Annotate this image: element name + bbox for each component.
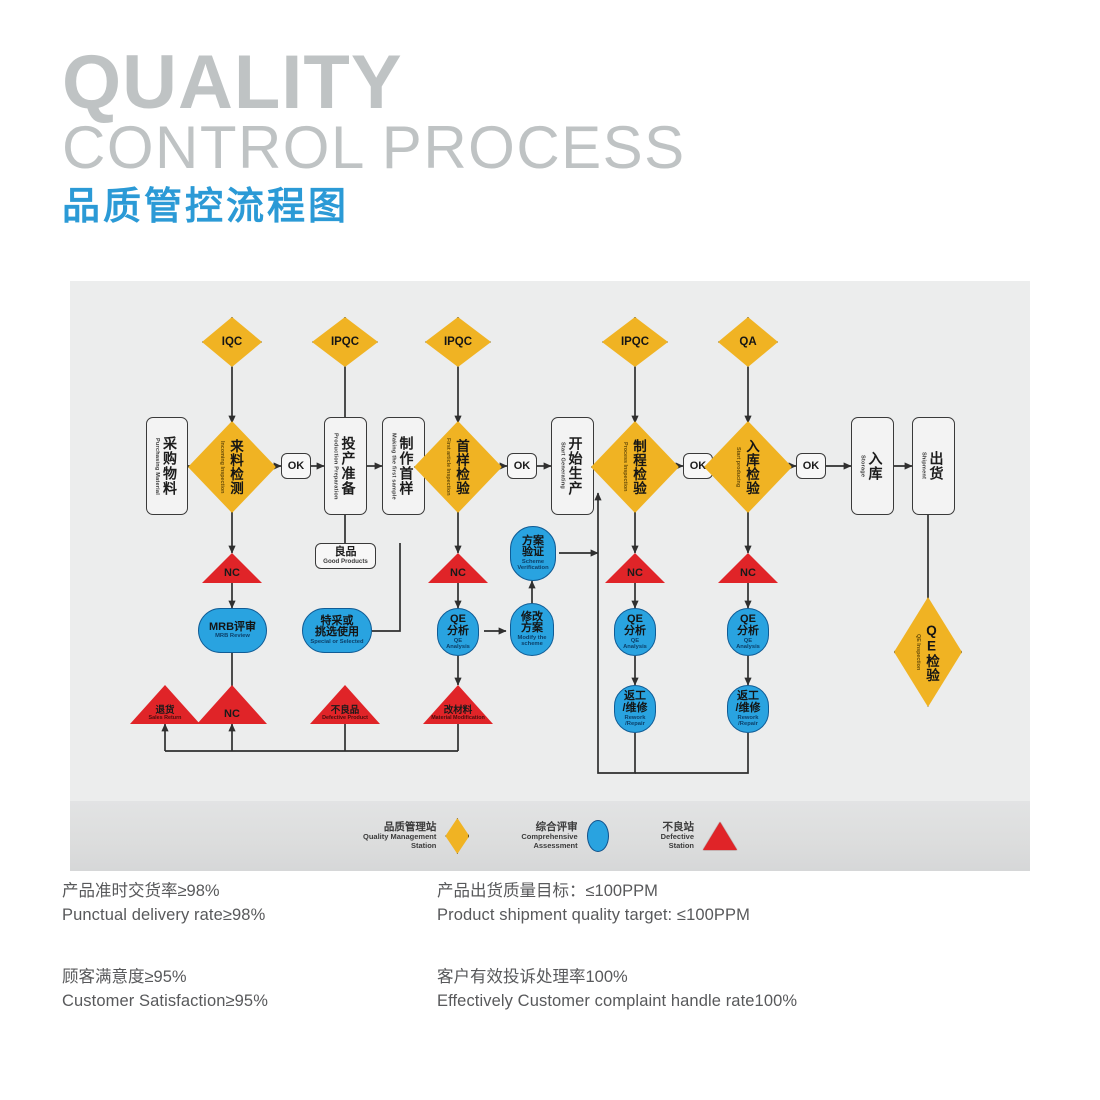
legend-item-comprehensive-assessment: 综合评审 Comprehensive Assessment <box>521 820 608 852</box>
salesreturn-en: Sales Return <box>149 716 182 721</box>
defect-triangle-defective-product[interactable]: 不良品 Defective Product <box>310 685 380 724</box>
review-capsule-mrb[interactable]: MRB评审 MRB Review <box>198 608 267 653</box>
nc5-label: NC <box>740 567 756 583</box>
kpi-cn-0: 产品准时交货率≥98% <box>62 880 437 904</box>
inspection-diamond-qe[interactable]: QE检验 QE Inspection <box>894 597 962 707</box>
review-capsule-modify-scheme[interactable]: 修改 方案 Modify the scheme <box>510 603 554 656</box>
inspection-diamond-incoming[interactable]: 来料检测 Incoming Inspection <box>188 421 276 513</box>
process-cn: 制程检验 <box>628 439 648 495</box>
qe3-en-line2: Analysis <box>736 644 760 650</box>
kpi-en-2: Customer Satisfaction≥95% <box>62 990 437 1014</box>
legend-en2-2: Station <box>661 842 694 850</box>
page-header: QUALITY CONTROL PROCESS 品质管控流程图 <box>62 48 962 226</box>
process-box-prep[interactable]: 投产准备 Production Preparation <box>324 417 367 515</box>
nc4-label: NC <box>627 567 643 583</box>
legend-en2-1: Assessment <box>521 842 577 850</box>
ok-badge-4[interactable]: OK <box>796 453 826 479</box>
defect-triangle-nc4[interactable]: NC <box>605 553 665 583</box>
ok-badge-1[interactable]: OK <box>281 453 311 479</box>
station-label-ipqc1: IPQC <box>331 336 359 348</box>
review-capsule-rework-2[interactable]: 返工 /维修 Rework /Repair <box>727 685 769 733</box>
inspection-diamond-instock[interactable]: 入库检验 Start producing <box>704 421 792 513</box>
special-cn-line2: 挑选使用 <box>315 627 359 639</box>
process-box-good-products[interactable]: 良品 Good Products <box>315 543 376 569</box>
process-box-purchase[interactable]: 采购物料 Purchasing Material <box>146 417 188 515</box>
defect-triangle-nc3[interactable]: NC <box>428 553 488 583</box>
legend-diamond-icon <box>445 818 469 854</box>
shipment-cn: 出货 <box>927 451 947 481</box>
process-box-shipment[interactable]: 出货 Shipment <box>912 417 955 515</box>
kpi-footer: 产品准时交货率≥98% Punctual delivery rate≥98% 产… <box>62 880 1042 1014</box>
prep-cn: 投产准备 <box>339 436 359 496</box>
kpi-cn-2: 顾客满意度≥95% <box>62 966 437 990</box>
defect-triangle-sales-return[interactable]: 退货 Sales Return <box>130 685 200 724</box>
legend-oval-icon <box>587 820 609 852</box>
startprod-cn: 开始生产 <box>566 436 586 496</box>
legend-en2-0: Station <box>363 842 436 850</box>
scheme-en-line2: Verification <box>517 565 548 571</box>
flowchart-canvas: IQC IPQC IPQC IPQC QA 采购物料 Purchasing Ma… <box>70 281 1030 801</box>
matmod-en: Material Modification <box>431 716 485 721</box>
modify-en-line2: scheme <box>521 641 543 647</box>
rework1-cn-line2: /维修 <box>622 703 647 715</box>
kpi-block-2: 顾客满意度≥95% Customer Satisfaction≥95% <box>62 966 437 1014</box>
modify-cn-line2: 方案 <box>521 623 543 635</box>
qe2-cn-line2: 分析 <box>624 626 646 638</box>
nc1-label: NC <box>224 567 240 583</box>
process-box-storage[interactable]: 入库 Storage <box>851 417 894 515</box>
qeinsp-cn: QE检验 <box>921 623 941 682</box>
inspection-diamond-process[interactable]: 制程检验 Process Inspection <box>591 421 679 513</box>
good-en: Good Products <box>323 559 368 566</box>
review-capsule-qe-analysis-2[interactable]: QE 分析 QE Analysis <box>614 608 656 656</box>
kpi-en-1: Product shipment quality target: ≤100PPM <box>437 904 1042 928</box>
legend-triangle-icon <box>703 822 737 850</box>
station-label-qa: QA <box>739 336 756 348</box>
kpi-cn-3: 客户有效投诉处理率100% <box>437 966 1042 990</box>
station-diamond-ipqc1[interactable]: IPQC <box>312 317 378 367</box>
firstsample-cn: 制作首样 <box>397 436 417 496</box>
defect-triangle-nc2[interactable]: NC <box>197 685 267 724</box>
good-cn: 良品 <box>335 547 357 559</box>
station-label-ipqc2: IPQC <box>444 336 472 348</box>
kpi-block-3: 客户有效投诉处理率100% Effectively Customer compl… <box>437 966 1042 1014</box>
defect-triangle-material-modification[interactable]: 改材料 Material Modification <box>423 685 493 724</box>
review-capsule-rework-1[interactable]: 返工 /维修 Rework /Repair <box>614 685 656 733</box>
rework2-cn-line2: /维修 <box>735 703 760 715</box>
kpi-block-1: 产品出货质量目标：≤100PPM Product shipment qualit… <box>437 880 1042 928</box>
defect-triangle-nc5[interactable]: NC <box>718 553 778 583</box>
review-capsule-qe-analysis-1[interactable]: QE 分析 QE Analysis <box>437 608 479 656</box>
kpi-cn-1: 产品出货质量目标：≤100PPM <box>437 880 1042 904</box>
defective-en: Defective Product <box>322 716 368 721</box>
qe3-cn-line2: 分析 <box>737 626 759 638</box>
legend-item-defective-station: 不良站 Defective Station <box>661 822 737 851</box>
nc3-label: NC <box>450 567 466 583</box>
kpi-block-0: 产品准时交货率≥98% Punctual delivery rate≥98% <box>62 880 437 928</box>
inspection-diamond-first-article[interactable]: 首样检验 First article Inspection <box>414 421 502 513</box>
defect-triangle-nc1[interactable]: NC <box>202 553 262 583</box>
mrb-en: MRB Review <box>215 633 250 639</box>
legend-strip: 品质管理站 Quality Management Station 综合评审 Co… <box>70 801 1030 871</box>
station-diamond-qa[interactable]: QA <box>718 317 778 367</box>
review-capsule-qe-analysis-3[interactable]: QE 分析 QE Analysis <box>727 608 769 656</box>
mrb-cn: MRB评审 <box>209 622 256 634</box>
storage-cn: 入库 <box>866 451 886 481</box>
title-chinese: 品质管控流程图 <box>62 188 962 226</box>
title-quality: QUALITY <box>62 48 962 118</box>
kpi-en-3: Effectively Customer complaint handle ra… <box>437 990 1042 1014</box>
review-capsule-special[interactable]: 特采或 挑选使用 Special or Selected <box>302 608 372 653</box>
qe2-en-line2: Analysis <box>623 644 647 650</box>
station-diamond-ipqc3[interactable]: IPQC <box>602 317 668 367</box>
special-en: Special or Selected <box>310 639 363 645</box>
incoming-cn: 来料检测 <box>225 439 245 495</box>
station-diamond-ipqc2[interactable]: IPQC <box>425 317 491 367</box>
legend-item-quality-management: 品质管理站 Quality Management Station <box>363 818 469 854</box>
instock-cn: 入库检验 <box>741 439 761 495</box>
fai-cn: 首样检验 <box>451 439 471 495</box>
nc2-label: NC <box>224 708 240 724</box>
title-control-process: CONTROL PROCESS <box>62 118 962 178</box>
rework1-en-line2: /Repair <box>625 721 645 727</box>
qe1-en-line2: Analysis <box>446 644 470 650</box>
scheme-cn-line2: 验证 <box>522 547 544 559</box>
process-box-start-production[interactable]: 开始生产 Start Generating <box>551 417 594 515</box>
rework2-en-line2: /Repair <box>738 721 758 727</box>
qe1-cn-line2: 分析 <box>447 626 469 638</box>
review-capsule-scheme-verification[interactable]: 方案 验证 Scheme Verification <box>510 526 556 581</box>
station-label-iqc: IQC <box>222 336 242 348</box>
ok-badge-2[interactable]: OK <box>507 453 537 479</box>
station-label-ipqc3: IPQC <box>621 336 649 348</box>
station-diamond-iqc[interactable]: IQC <box>202 317 262 367</box>
kpi-en-0: Punctual delivery rate≥98% <box>62 904 437 928</box>
purchase-cn: 采购物料 <box>160 436 180 496</box>
